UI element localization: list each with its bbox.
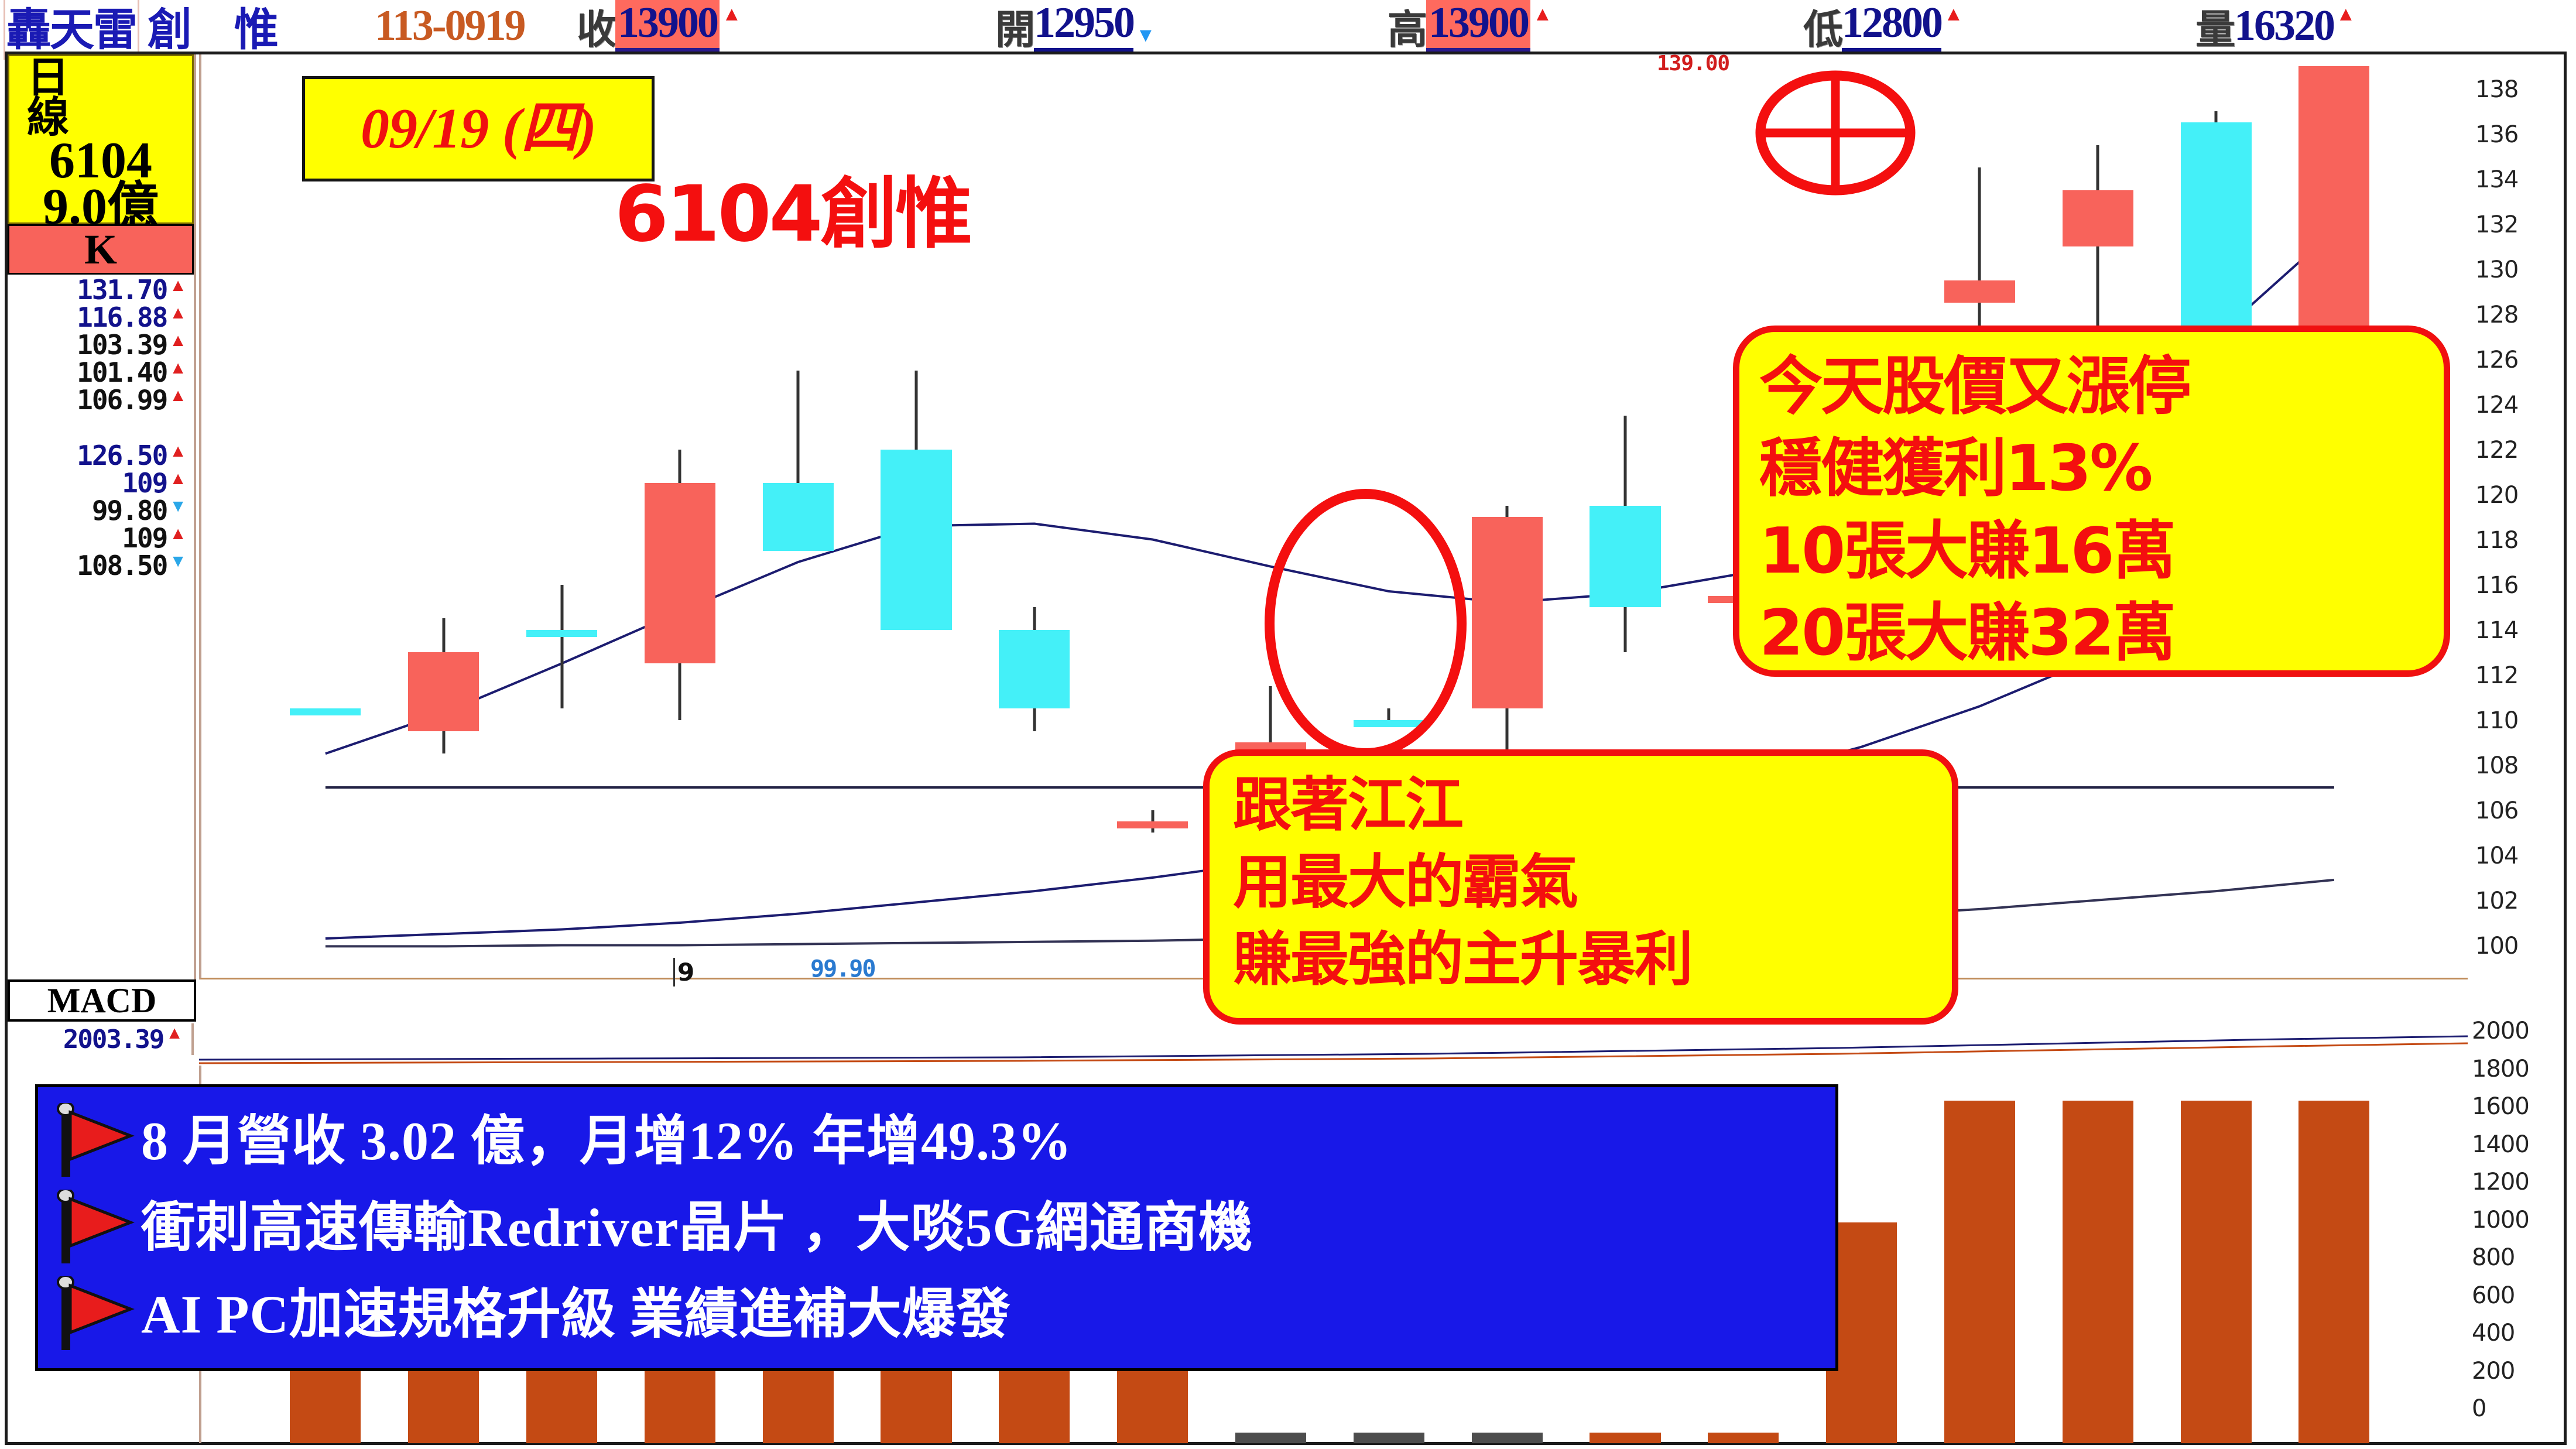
low-price-tag: 99.90: [810, 955, 875, 982]
news-banner-text: AI PC加速規格升級 業績進補大爆發: [141, 1287, 1011, 1341]
target-crosshair-icon: [1753, 70, 1917, 196]
volume-axis: 2000180016001400120010008006004002000: [2472, 989, 2574, 1443]
price-axis-tick: 118: [2475, 527, 2518, 554]
price-axis-tick: 138: [2475, 76, 2518, 103]
volume-bar: [2298, 1101, 2369, 1443]
ma-up-arrow-icon: ▲: [169, 469, 187, 489]
slogan-callout-line: 賺最強的主升暴利: [1233, 921, 1940, 998]
ma-row: 106.99▲: [8, 386, 194, 413]
k-label: K: [84, 228, 117, 270]
ma-value: 99.80: [92, 495, 167, 526]
news-banner-text: 衝刺高速傳輸Redriver晶片 ，大啖5G網通商機: [141, 1201, 1253, 1255]
stock-code-label: 6104: [49, 138, 152, 184]
trade-date-value: 113-0919: [375, 1, 525, 51]
ma-values-list: 131.70▲ 116.88▲ 103.39▲ 101.40▲ 106.99▲ …: [8, 276, 194, 579]
price-axis-tick: 110: [2475, 707, 2518, 734]
ma-row: 109▲: [8, 524, 194, 551]
x-axis-tick-label: 9: [673, 958, 694, 986]
price-axis-tick: 102: [2475, 888, 2518, 914]
candle-body: [1472, 517, 1543, 708]
volume-axis-tick: 0: [2472, 1395, 2486, 1422]
price-axis-tick: 126: [2475, 347, 2518, 374]
volume-axis-tick: 1200: [2472, 1169, 2529, 1195]
slogan-callout: 跟著江江 用最大的霸氣 賺最強的主升暴利: [1203, 749, 1958, 1025]
close-label: 收: [577, 0, 615, 55]
high-group: 高 13900 ▲: [1388, 1, 1553, 50]
ma-row: 131.70▲: [8, 276, 194, 303]
ma-row: 101.40▲: [8, 358, 194, 386]
price-axis-tick: 128: [2475, 302, 2518, 328]
period-label: 日 線: [9, 57, 192, 138]
close-up-arrow-icon: ▲: [722, 4, 742, 26]
ma-value: 106.99: [77, 384, 167, 416]
macd-dif-line: [199, 1036, 2468, 1060]
candlestick: [290, 54, 361, 979]
candlestick: [1117, 54, 1188, 979]
high-label: 高: [1388, 0, 1426, 55]
volume-bar: [1708, 1433, 1779, 1443]
volume-value: 16320: [2234, 1, 2334, 51]
macd-signal-line: [199, 1043, 2468, 1063]
price-axis-tick: 104: [2475, 842, 2518, 869]
volume-bar: [2063, 1101, 2133, 1443]
ma-row: 116.88▲: [8, 303, 194, 331]
candle-body: [1590, 506, 1660, 607]
ma-down-arrow-icon: ▼: [169, 551, 187, 571]
price-axis-tick: 130: [2475, 256, 2518, 283]
date-badge: 09/19 (四): [302, 76, 655, 181]
spacer: [8, 413, 194, 441]
profit-callout-line: 穩健獲利13%: [1759, 428, 2432, 510]
open-label: 開: [995, 0, 1034, 55]
candle-body: [526, 630, 597, 637]
open-group: 開 12950 ▼: [995, 1, 1156, 50]
volume-axis-tick: 400: [2472, 1320, 2515, 1347]
price-axis-tick: 108: [2475, 752, 2518, 779]
ma-up-arrow-icon: ▲: [169, 524, 187, 544]
price-axis: 1381361341321301281261241221201181161141…: [2472, 54, 2571, 991]
candle-body: [999, 630, 1070, 709]
slogan-callout-line: 跟著江江: [1233, 766, 1940, 844]
volume-bar: [1590, 1433, 1660, 1443]
price-axis-tick: 116: [2475, 572, 2518, 599]
macd-label: MACD: [47, 983, 157, 1018]
volume-axis-tick: 600: [2472, 1282, 2515, 1309]
candle-body: [2298, 66, 2369, 348]
volume-axis-tick: 200: [2472, 1358, 2515, 1385]
quote-bar: 轟天雷 創 惟 113-0919 收 13900 ▲ 開 12950 ▼ 高 1…: [0, 0, 2576, 52]
price-axis-tick: 122: [2475, 437, 2518, 464]
red-flag-icon: [53, 1103, 141, 1179]
ma-up-arrow-icon: ▲: [169, 386, 187, 406]
trade-date: 113-0919: [375, 1, 525, 50]
volume-group: 量 16320 ▲: [2195, 1, 2356, 50]
open-down-arrow-icon: ▼: [1136, 25, 1156, 47]
volume-axis-tick: 2000: [2472, 1018, 2529, 1044]
news-banner-row: 8 月營收 3.02 億，月增12% 年增49.3%: [38, 1098, 1835, 1184]
news-banner: 8 月營收 3.02 億，月增12% 年增49.3% 衝刺高速傳輸Redrive…: [35, 1084, 1838, 1371]
candle-body: [881, 450, 951, 630]
price-axis-tick: 100: [2475, 933, 2518, 960]
macd-value: 2003.39: [63, 1025, 163, 1054]
price-axis-tick: 114: [2475, 617, 2518, 644]
ma-up-arrow-icon: ▲: [169, 303, 187, 323]
macd-value-row: 2003.39 ▲: [8, 1023, 194, 1055]
indicator-panel: 日 線 6104 9.0億 K 131.70▲ 116.88▲ 103.39▲ …: [8, 54, 196, 979]
ma-value: 103.39: [77, 329, 167, 361]
ma-row: 108.50▼: [8, 551, 194, 579]
profit-callout: 今天股價又漲停 穩健獲利13% 10張大賺16萬 20張大賺32萬: [1733, 326, 2450, 677]
ma-value: 126.50: [77, 440, 167, 471]
candle-body: [645, 483, 715, 663]
news-banner-row: 衝刺高速傳輸Redriver晶片 ，大啖5G網通商機: [38, 1184, 1835, 1271]
price-axis-tick: 132: [2475, 211, 2518, 238]
ma-up-arrow-icon: ▲: [169, 358, 187, 378]
profit-callout-line: 10張大賺16萬: [1759, 511, 2432, 592]
volume-axis-tick: 1400: [2472, 1131, 2529, 1158]
volume-label: 量: [2195, 0, 2234, 55]
low-label: 低: [1803, 0, 1842, 55]
ma-row: 103.39▲: [8, 331, 194, 358]
brand-label: 轟天雷 創 惟: [4, 1, 278, 50]
volume-bar: [1944, 1101, 2015, 1443]
ma-value: 116.88: [77, 302, 167, 333]
date-badge-text: 09/19 (四): [361, 100, 596, 157]
candle-body: [2063, 190, 2133, 246]
ma-up-arrow-icon: ▲: [169, 276, 187, 296]
volume-bar: [2181, 1101, 2252, 1443]
candle-body: [408, 652, 479, 731]
profit-callout-line: 20張大賺32萬: [1759, 592, 2432, 674]
low-value: 12800: [1842, 0, 1941, 53]
k-indicator-header[interactable]: K: [8, 224, 194, 275]
volume-bar: [1235, 1433, 1306, 1443]
open-value: 12950: [1034, 0, 1133, 53]
volume-bar: [1472, 1433, 1543, 1443]
volume-up-arrow-icon: ▲: [2336, 4, 2356, 26]
highlight-circle-annotation: [1265, 489, 1467, 758]
high-up-arrow-icon: ▲: [1533, 4, 1553, 26]
price-axis-tick: 136: [2475, 121, 2518, 148]
ma-up-arrow-icon: ▲: [169, 331, 187, 351]
volume-bar: [1354, 1433, 1424, 1443]
candlestick: [999, 54, 1070, 979]
low-up-arrow-icon: ▲: [1944, 4, 1964, 26]
candle-body: [1117, 821, 1188, 828]
period-header: 日 線 6104 9.0億: [8, 54, 194, 224]
candle-body: [1944, 280, 2015, 303]
volume-axis-tick: 1000: [2472, 1207, 2529, 1234]
candlestick: [408, 54, 479, 979]
candle-wick: [1978, 167, 1981, 337]
volume-axis-tick: 800: [2472, 1244, 2515, 1271]
price-axis-tick: 112: [2475, 662, 2518, 689]
slogan-callout-line: 用最大的霸氣: [1233, 844, 1940, 921]
red-flag-icon: [53, 1276, 141, 1352]
turnover-label: 9.0億: [43, 184, 159, 230]
macd-header[interactable]: MACD: [8, 979, 196, 1022]
price-axis-tick: 124: [2475, 392, 2518, 419]
ma-value: 101.40: [77, 357, 167, 388]
high-price-tag: 139.00: [1657, 52, 1729, 76]
low-group: 低 12800 ▲: [1803, 1, 1964, 50]
red-flag-icon: [53, 1190, 141, 1266]
high-value: 13900: [1426, 0, 1530, 53]
ma-row: 109▲: [8, 469, 194, 496]
candlestick: [526, 54, 597, 979]
ma-row: 99.80▼: [8, 496, 194, 524]
price-axis-tick: 134: [2475, 166, 2518, 193]
ma-value: 109: [122, 522, 167, 554]
volume-axis-tick: 1800: [2472, 1056, 2529, 1083]
candle-body: [2181, 122, 2252, 348]
volume-axis-tick: 1600: [2472, 1093, 2529, 1120]
news-banner-row: AI PC加速規格升級 業績進補大爆發: [38, 1271, 1835, 1358]
brand-text: 轟天雷: [4, 0, 139, 60]
price-axis-tick: 120: [2475, 482, 2518, 509]
news-banner-text: 8 月營收 3.02 億，月增12% 年增49.3%: [141, 1114, 1072, 1168]
candle-body: [290, 708, 361, 715]
stock-name-text: 創 惟: [148, 0, 278, 58]
ma-value: 131.70: [77, 274, 167, 306]
price-axis-tick: 106: [2475, 797, 2518, 824]
macd-up-arrow-icon: ▲: [166, 1023, 183, 1043]
ma-row: 126.50▲: [8, 441, 194, 469]
close-group: 收 13900 ▲: [577, 1, 742, 50]
ma-value: 109: [122, 467, 167, 499]
profit-callout-line: 今天股價又漲停: [1759, 346, 2432, 428]
ma-up-arrow-icon: ▲: [169, 441, 187, 461]
candle-wick: [560, 585, 563, 709]
candle-body: [763, 483, 834, 551]
close-value: 13900: [615, 0, 720, 53]
page-title: 6104創惟: [615, 176, 970, 253]
ma-value: 108.50: [77, 550, 167, 581]
ma-down-arrow-icon: ▼: [169, 496, 187, 516]
